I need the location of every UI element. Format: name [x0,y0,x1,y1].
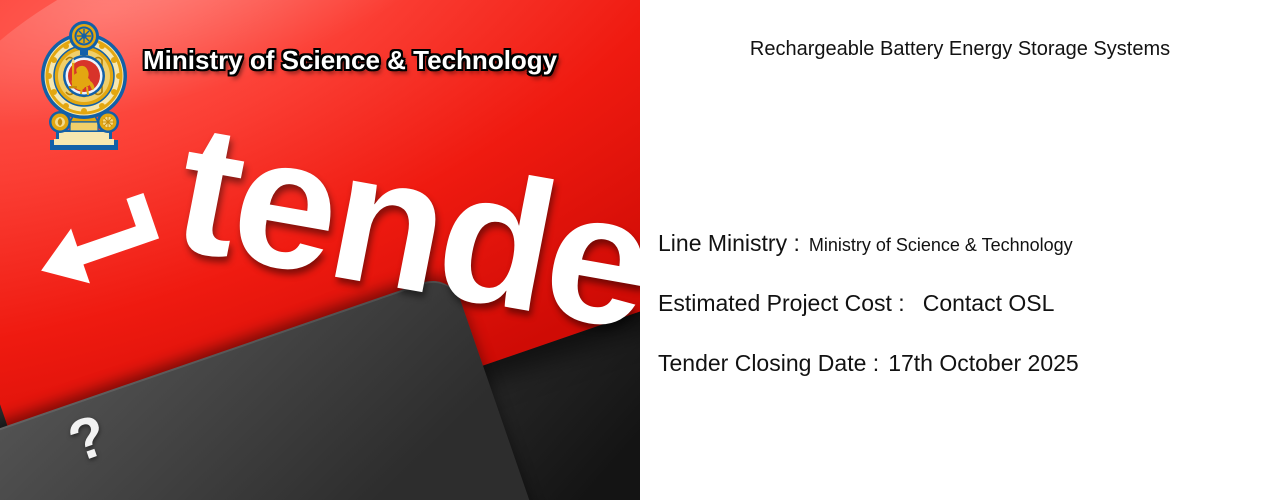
tender-closing-date-label: Tender Closing Date : [658,350,879,376]
estimated-project-cost-value: Contact OSL [923,290,1055,316]
tender-keyboard-photo: ? tender [0,0,640,500]
detail-row-estimated-project-cost: Estimated Project Cost :Contact OSL [658,290,1054,317]
line-ministry-label: Line Ministry : [658,230,800,256]
photo-overlay-ministry-title: Ministry of Science & Technology [143,45,557,76]
tender-title: Rechargeable Battery Energy Storage Syst… [640,38,1280,61]
detail-row-line-ministry: Line Ministry :Ministry of Science & Tec… [658,230,1073,257]
detail-row-tender-closing-date: Tender Closing Date :17th October 2025 [658,350,1079,377]
tender-closing-date-value: 17th October 2025 [888,350,1079,376]
tender-info-panel: Rechargeable Battery Energy Storage Syst… [640,0,1280,500]
tender-listing-card: ? tender [0,0,1280,500]
estimated-project-cost-label: Estimated Project Cost : [658,290,905,316]
line-ministry-value: Ministry of Science & Technology [809,235,1073,255]
sri-lanka-government-emblem-icon [36,18,132,160]
